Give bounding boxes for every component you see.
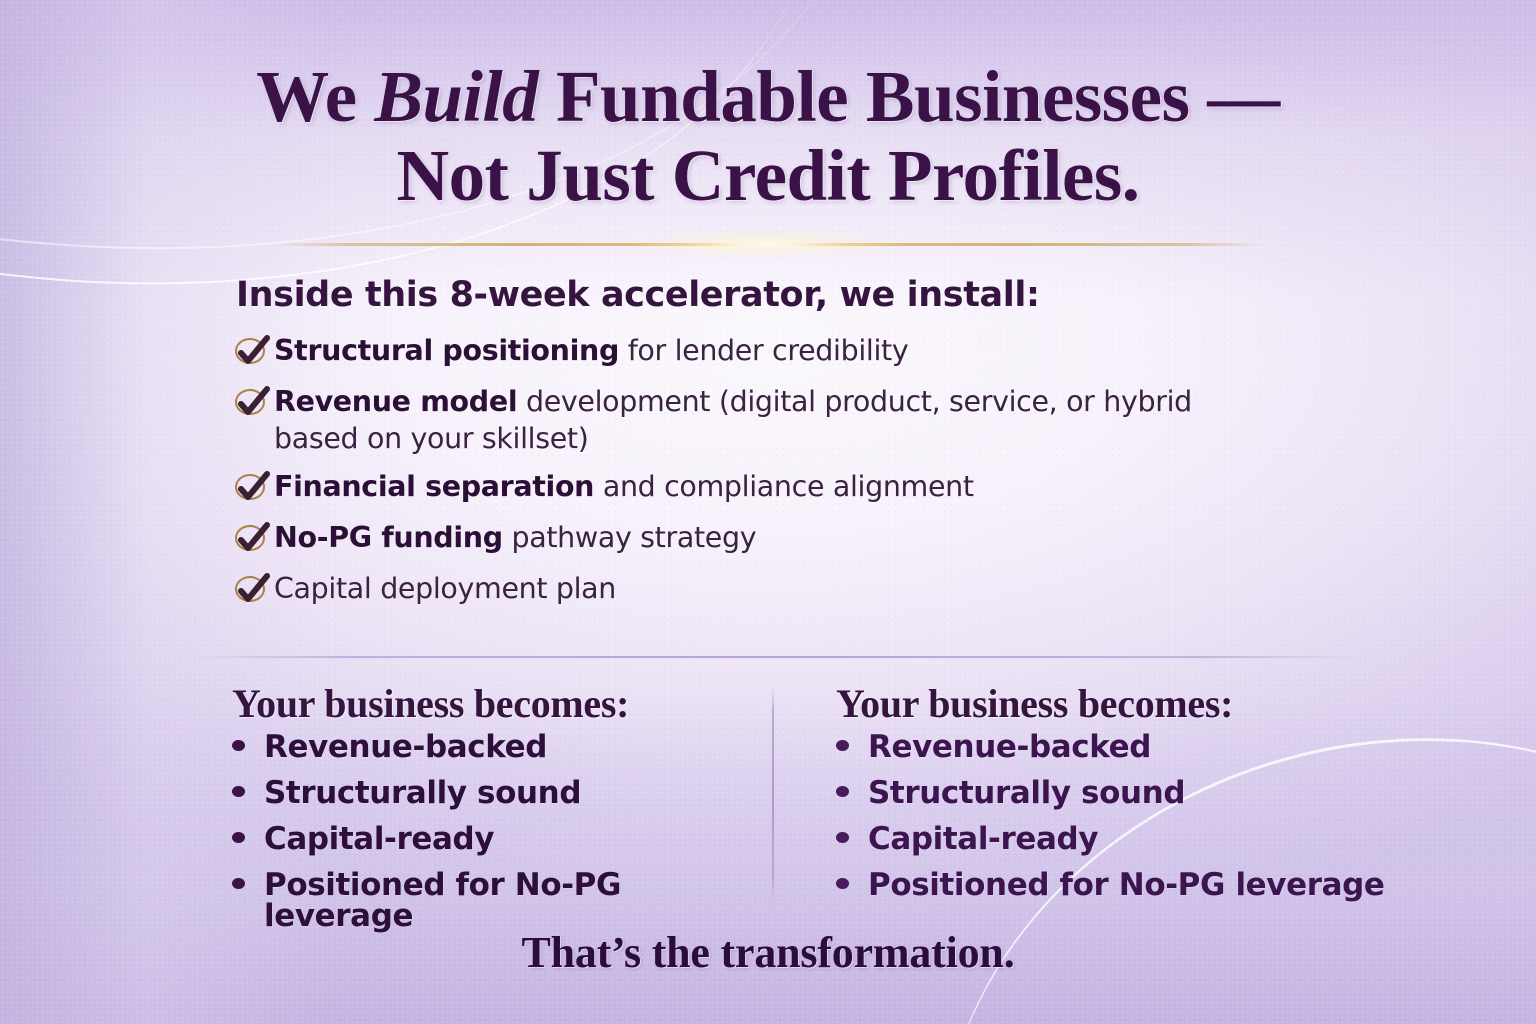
checklist-item: Revenue model development (digital produ…	[232, 383, 1192, 457]
check-circle-icon	[232, 385, 274, 423]
checklist: Structural positioning for lender credib…	[232, 332, 1192, 621]
checklist-item-bold: Revenue model	[274, 385, 517, 418]
list-item-label: Structurally sound	[264, 778, 581, 809]
checklist-item: Capital deployment plan	[232, 570, 1192, 610]
list-item-label: Revenue-backed	[264, 732, 547, 763]
bullet-icon	[232, 740, 245, 751]
headline-part-2: Fundable Businesses —	[538, 56, 1280, 137]
headline-part-1: We	[256, 56, 374, 137]
headline-emphasis: Build	[374, 56, 538, 137]
list-item: Capital-ready	[232, 824, 772, 855]
checklist-item-text: No-PG funding pathway strategy	[274, 519, 756, 556]
check-circle-icon	[232, 334, 274, 372]
check-circle-icon	[232, 470, 274, 508]
closing-statement: That’s the transformation.	[0, 927, 1536, 978]
bullet-icon	[836, 786, 849, 797]
list-item: Positioned for No-PG leverage	[836, 870, 1536, 901]
checklist-item-rest: pathway strategy	[503, 521, 756, 554]
bullet-icon	[232, 786, 245, 797]
checklist-item-rest: for lender credibility	[619, 334, 908, 367]
slide-canvas: We Build Fundable Businesses —Not Just C…	[0, 0, 1536, 1024]
list-item-label: Capital-ready	[868, 824, 1098, 855]
list-item: Revenue-backed	[232, 732, 772, 763]
slide-content: We Build Fundable Businesses —Not Just C…	[0, 0, 1536, 1024]
outcome-column-left: Your business becomes: Revenue-backed St…	[0, 682, 772, 947]
bullet-icon	[836, 740, 849, 751]
list-item-label: Revenue-backed	[868, 732, 1151, 763]
checklist-item: Structural positioning for lender credib…	[232, 332, 1192, 372]
list-item: Capital-ready	[836, 824, 1536, 855]
list-item-label: Capital-ready	[264, 824, 494, 855]
bullet-icon	[836, 878, 849, 889]
checklist-item-text: Revenue model development (digital produ…	[274, 383, 1192, 457]
page-title: We Build Fundable Businesses —Not Just C…	[0, 58, 1536, 216]
section-divider	[185, 656, 1365, 658]
checklist-item-bold: No-PG funding	[274, 521, 503, 554]
checklist-item: No-PG funding pathway strategy	[232, 519, 1192, 559]
list-item: Revenue-backed	[836, 732, 1536, 763]
checklist-item-text: Capital deployment plan	[274, 570, 616, 607]
column-title: Your business becomes:	[232, 682, 772, 726]
list-item-label: Structurally sound	[868, 778, 1185, 809]
bullet-icon	[836, 832, 849, 843]
column-title: Your business becomes:	[836, 682, 1536, 726]
list-item: Positioned for No-PG leverage	[232, 870, 772, 932]
headline-line-2: Not Just Credit Profiles.	[396, 135, 1139, 216]
checklist-item-rest: and compliance alignment	[594, 470, 974, 503]
checklist-item-bold: Capital deployment plan	[274, 572, 616, 605]
outcome-list: Revenue-backed Structurally sound Capita…	[232, 732, 772, 932]
bullet-icon	[232, 832, 245, 843]
checklist-item-bold: Structural positioning	[274, 334, 619, 367]
checklist-item-text: Financial separation and compliance alig…	[274, 468, 974, 505]
check-circle-icon	[232, 572, 274, 610]
checklist-item-text: Structural positioning for lender credib…	[274, 332, 908, 369]
list-item-label: Positioned for No-PG leverage	[264, 870, 772, 932]
checklist-item-bold: Financial separation	[274, 470, 594, 503]
bullet-icon	[232, 878, 245, 889]
list-item-label: Positioned for No-PG leverage	[868, 870, 1385, 901]
list-item: Structurally sound	[836, 778, 1536, 809]
outcome-list: Revenue-backed Structurally sound Capita…	[836, 732, 1536, 901]
gold-divider-glow	[640, 230, 890, 258]
outcome-column-right: Your business becomes: Revenue-backed St…	[772, 682, 1536, 947]
checklist-item: Financial separation and compliance alig…	[232, 468, 1192, 508]
check-circle-icon	[232, 521, 274, 559]
section-subheading: Inside this 8-week accelerator, we insta…	[236, 275, 1040, 315]
outcome-columns: Your business becomes: Revenue-backed St…	[0, 682, 1536, 947]
list-item: Structurally sound	[232, 778, 772, 809]
